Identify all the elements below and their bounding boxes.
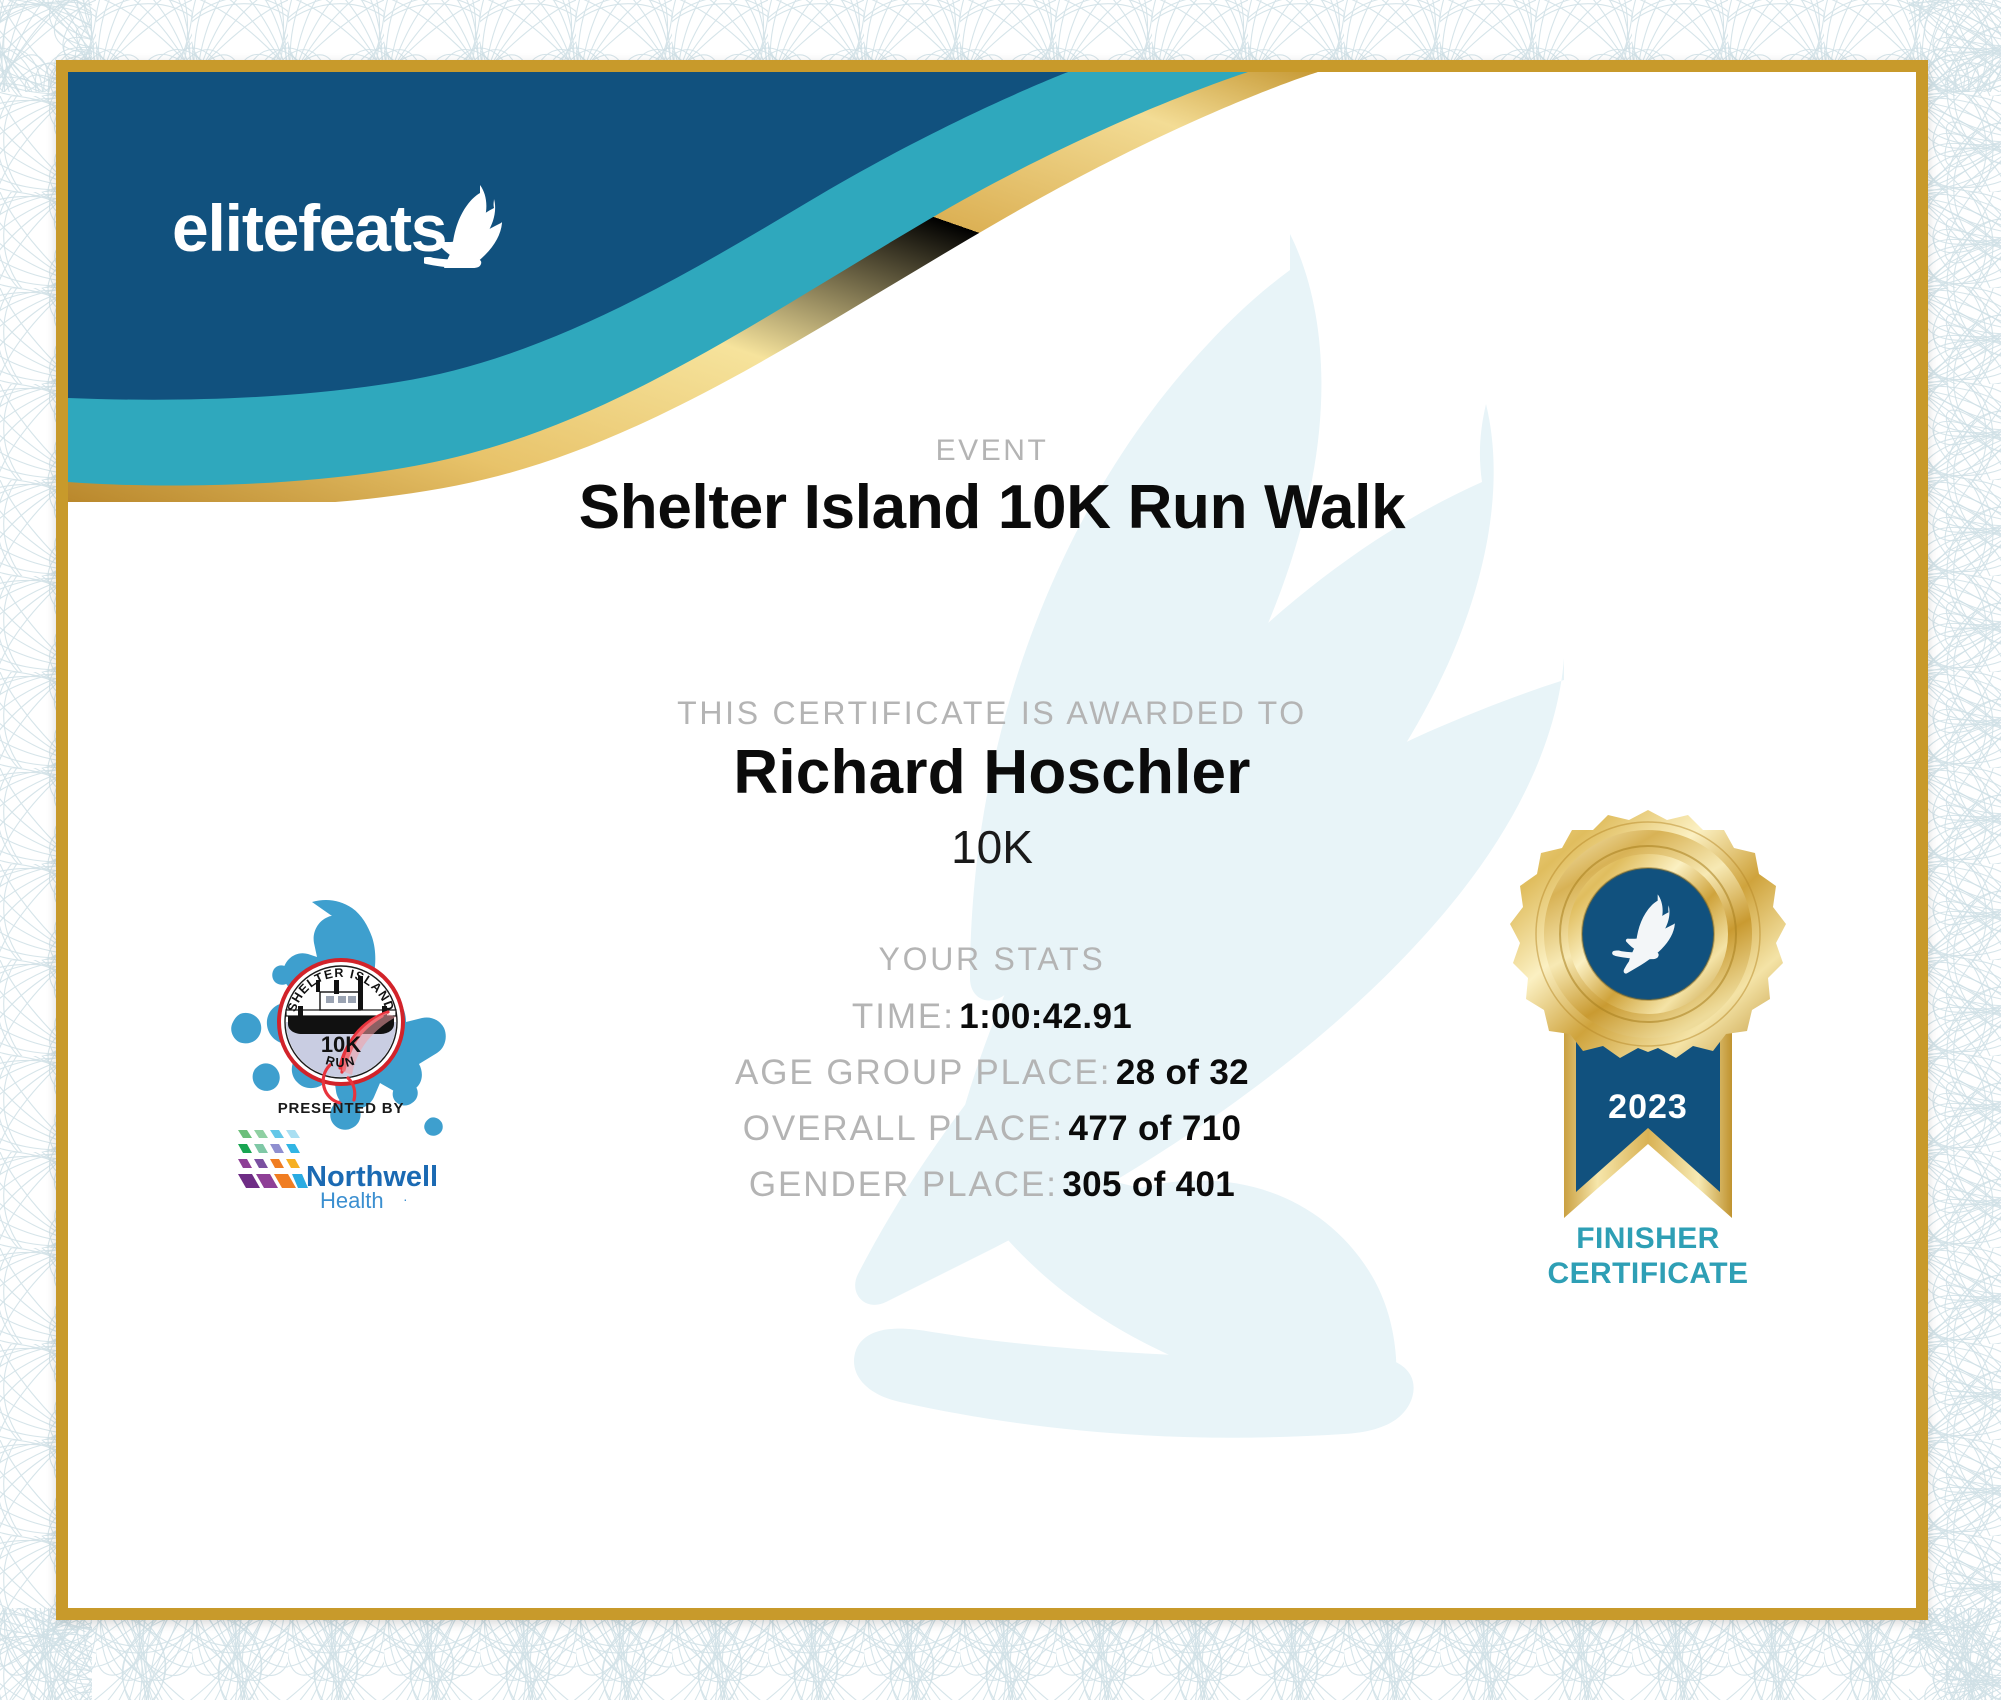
medal-year: 2023 <box>1608 1088 1688 1126</box>
northwell-chevron-grid-icon <box>238 1130 308 1188</box>
awarded-to-label: THIS CERTIFICATE IS AWARDED TO <box>68 695 1916 732</box>
certificate-body: elitefeats EVENT Shelter Island 10K Run … <box>68 72 1916 1608</box>
certificate-frame: elitefeats EVENT Shelter Island 10K Run … <box>56 60 1928 1620</box>
finisher-medal-badge: 2023 <box>1468 800 1828 1230</box>
stat-value: 1:00:42.91 <box>959 997 1132 1036</box>
certificate-content: EVENT Shelter Island 10K Run Walk THIS C… <box>68 72 1916 1608</box>
stat-key: TIME: <box>852 997 955 1036</box>
medal-caption-line2: CERTIFICATE <box>1458 1257 1838 1292</box>
stat-value: 28 of 32 <box>1116 1053 1249 1092</box>
stat-key: OVERALL PLACE: <box>743 1109 1064 1148</box>
medal-caption-line1: FINISHER <box>1458 1222 1838 1257</box>
event-title: Shelter Island 10K Run Walk <box>68 472 1916 543</box>
presented-by-label: PRESENTED BY <box>216 1100 466 1117</box>
certificate-page: elitefeats EVENT Shelter Island 10K Run … <box>0 0 2001 1700</box>
northwell-trademark: · <box>403 1191 408 1207</box>
event-logo-center-text: 10K <box>321 1032 361 1057</box>
recipient-name: Richard Hoschler <box>68 737 1916 808</box>
event-label: EVENT <box>68 434 1916 468</box>
medal-starburst <box>1510 810 1786 1058</box>
stat-key: GENDER PLACE: <box>749 1165 1058 1204</box>
stat-value: 305 of 401 <box>1062 1165 1235 1204</box>
stat-value: 477 of 710 <box>1069 1109 1242 1148</box>
elitefeats-logo: elitefeats <box>172 190 446 266</box>
winged-foot-icon <box>424 182 508 268</box>
medal-caption: FINISHER CERTIFICATE <box>1458 1222 1838 1292</box>
northwell-name-line2: Health <box>320 1188 384 1212</box>
stat-key: AGE GROUP PLACE: <box>735 1053 1111 1092</box>
elitefeats-wordmark: elitefeats <box>172 191 446 265</box>
northwell-health-logo: Northwell Health · <box>228 1124 458 1212</box>
